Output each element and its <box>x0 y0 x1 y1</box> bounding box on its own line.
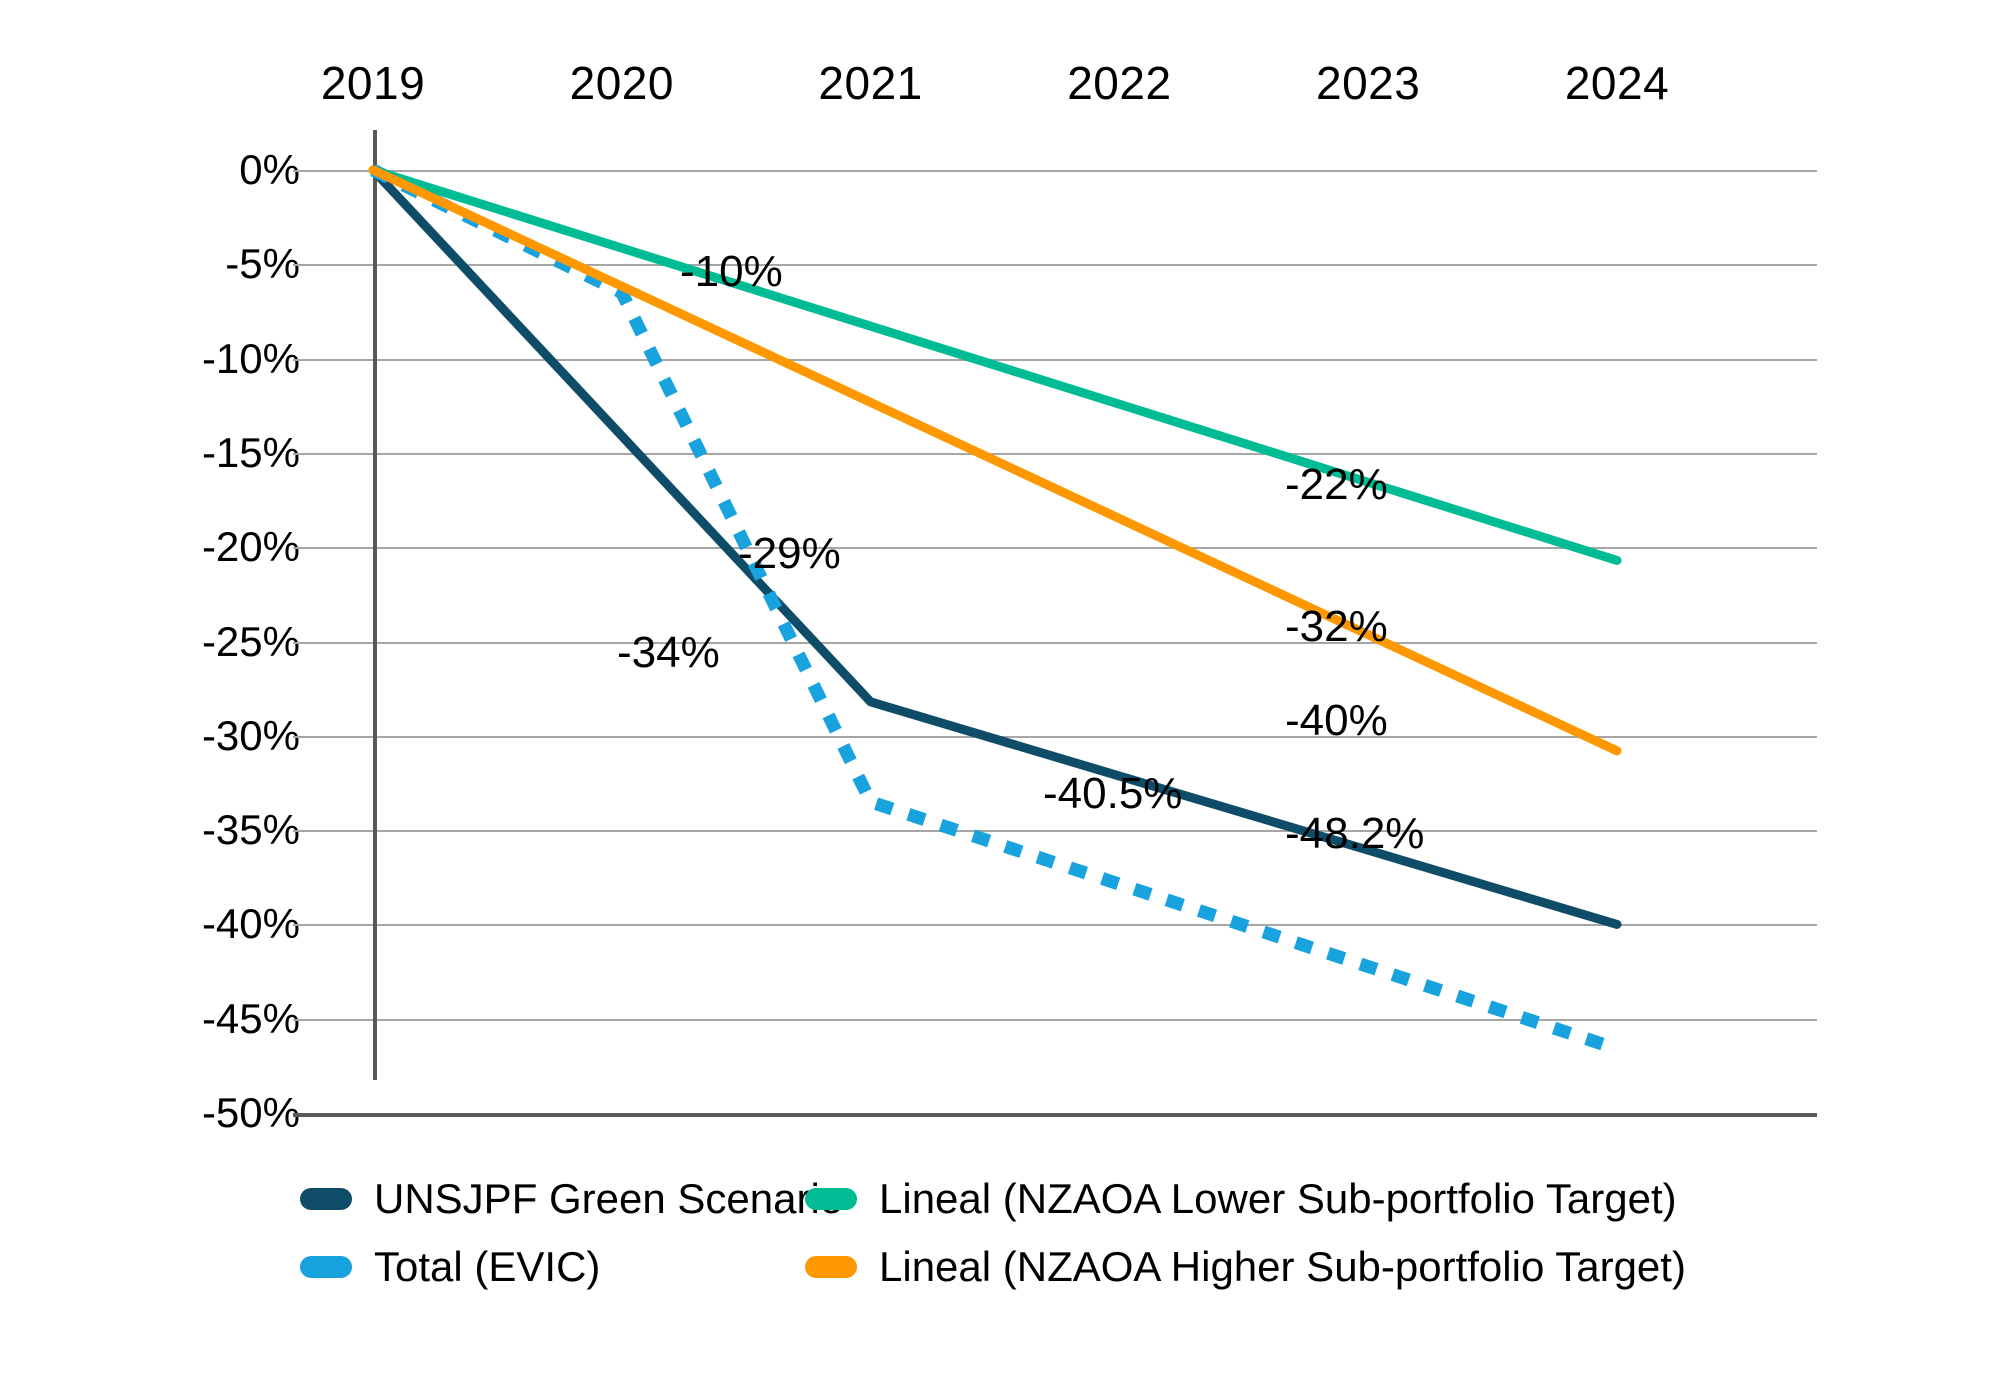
y-axis-tick: -25% <box>202 618 300 666</box>
legend-item-label: UNSJPF Green Scenario <box>374 1175 843 1223</box>
y-axis-labels: 0%-5%-10%-15%-20%-25%-30%-35%-40%-45%-50… <box>0 0 300 1395</box>
x-axis-tick-2023: 2023 <box>1316 48 1420 118</box>
y-axis-tick: -10% <box>202 335 300 383</box>
x-axis-tick-2022: 2022 <box>1067 48 1171 118</box>
legend-item-label: Total (EVIC) <box>374 1243 600 1291</box>
y-axis-tick: -15% <box>202 429 300 477</box>
series-lines <box>293 170 1817 1113</box>
data-point-label: -40.5% <box>1043 772 1182 816</box>
data-point-label: -29% <box>738 532 841 576</box>
y-axis-tick: -45% <box>202 995 300 1043</box>
y-axis-tick: -20% <box>202 523 300 571</box>
series-line <box>373 170 1617 1049</box>
legend-swatch-icon <box>805 1256 857 1278</box>
chart-container: 201920202021202220232024 0%-5%-10%-15%-2… <box>0 0 2000 1395</box>
legend-swatch-icon <box>300 1256 352 1278</box>
y-axis-tick: -35% <box>202 806 300 854</box>
legend-swatch-icon <box>805 1188 857 1210</box>
data-point-label: -10% <box>680 250 783 294</box>
y-axis-tick: -30% <box>202 712 300 760</box>
y-axis-tick: 0% <box>239 146 300 194</box>
series-line <box>373 170 1617 924</box>
y-axis-tick: -40% <box>202 900 300 948</box>
legend-item-label: Lineal (NZAOA Lower Sub-portfolio Target… <box>879 1175 1677 1223</box>
x-axis-tick-2020: 2020 <box>570 48 674 118</box>
y-axis-tick: -50% <box>202 1089 300 1137</box>
data-point-label: -34% <box>617 631 720 675</box>
legend-item-nzaoa-higher-target[interactable]: Lineal (NZAOA Higher Sub-portfolio Targe… <box>805 1243 1686 1291</box>
x-axis-labels: 201920202021202220232024 <box>0 48 2000 118</box>
legend-item-label: Lineal (NZAOA Higher Sub-portfolio Targe… <box>879 1243 1686 1291</box>
data-point-label: -22% <box>1285 463 1388 507</box>
data-point-label: -40% <box>1285 699 1388 743</box>
legend-row: UNSJPF Green Scenario Lineal (NZAOA Lowe… <box>300 1165 1700 1233</box>
data-point-label: -48.2% <box>1285 812 1424 856</box>
y-axis-tick: -5% <box>225 240 300 288</box>
series-line <box>373 170 1617 751</box>
legend-item-nzaoa-lower-target[interactable]: Lineal (NZAOA Lower Sub-portfolio Target… <box>805 1175 1677 1223</box>
x-axis-tick-2021: 2021 <box>818 48 922 118</box>
legend-item-unsjpf-green-scenario[interactable]: UNSJPF Green Scenario <box>300 1175 805 1223</box>
data-point-label: -32% <box>1285 605 1388 649</box>
chart-legend: UNSJPF Green Scenario Lineal (NZAOA Lowe… <box>300 1165 1700 1301</box>
x-axis-tick-2019: 2019 <box>321 48 425 118</box>
x-axis-tick-2024: 2024 <box>1565 48 1669 118</box>
gridline <box>293 1113 1817 1117</box>
legend-item-total-evic[interactable]: Total (EVIC) <box>300 1243 805 1291</box>
legend-row: Total (EVIC) Lineal (NZAOA Higher Sub-po… <box>300 1233 1700 1301</box>
legend-swatch-icon <box>300 1188 352 1210</box>
